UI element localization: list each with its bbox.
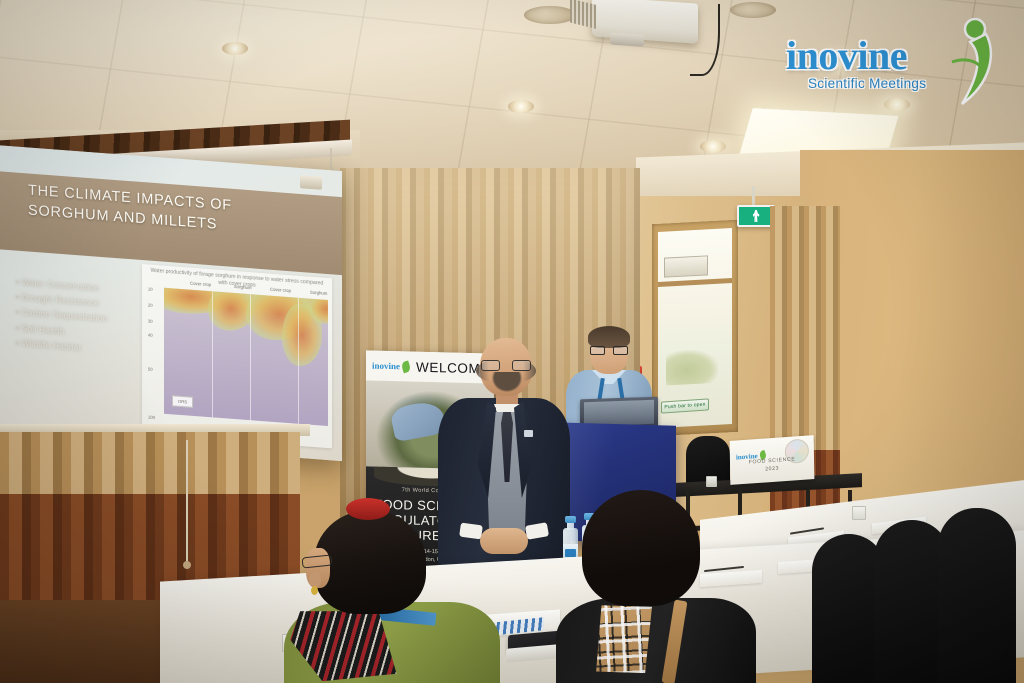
running-man-glyph	[753, 210, 760, 222]
chart-column-header: Cover crop	[270, 287, 291, 294]
chart-ytick: 40	[148, 332, 153, 337]
brand-tagline: Scientific Meetings	[808, 76, 926, 91]
ceiling-vent	[524, 6, 576, 24]
chart-column-divider	[250, 294, 251, 420]
inovine-watermark: inovine Scientific Meetings	[786, 18, 998, 102]
ceiling-projector	[592, 0, 698, 44]
chart-column-divider	[212, 291, 213, 417]
exit-sign-bracket	[752, 186, 755, 206]
screen-roller-knob[interactable]	[330, 148, 339, 172]
chart-ytick: 50	[148, 366, 153, 371]
presentation-slide: THE CLIMATE IMPACTS OF SORGHUM AND MILLE…	[0, 145, 342, 461]
speaker-beard	[492, 372, 522, 392]
brand-name: inovine	[786, 32, 907, 79]
chart-column-header: Sorghum	[234, 284, 251, 290]
downlight-icon	[508, 100, 534, 113]
operator-hair	[588, 326, 630, 348]
chart-badge: ORS	[172, 395, 193, 408]
chair-back	[938, 508, 1016, 683]
operator-glasses-icon	[590, 346, 628, 355]
chart-ytick: 100	[148, 414, 155, 420]
delegate-left-red-hair-tie	[346, 498, 390, 520]
drinking-glass	[706, 476, 717, 487]
seated-delegate-right	[556, 490, 756, 683]
drinking-glass	[852, 506, 866, 520]
chart-column-divider	[298, 298, 299, 424]
chart-ytick: 30	[148, 318, 153, 323]
chart-column-header: Cover crop	[190, 281, 211, 288]
inovine-logo-small: inovine	[372, 360, 410, 372]
projector-lens	[610, 33, 644, 47]
slide-bullet-list: Water Conservation Drought Resistance Ca…	[16, 275, 156, 361]
curtain-pull-cord[interactable]	[186, 440, 188, 562]
lower-left-curtain-top-band	[0, 432, 300, 494]
delegate-left-earring	[311, 586, 318, 595]
banner-logo-text: inovine	[372, 361, 400, 372]
leaf-icon	[401, 360, 412, 373]
screen-side-bracket	[300, 175, 322, 190]
projection-screen: THE CLIMATE IMPACTS OF SORGHUM AND MILLE…	[0, 145, 342, 461]
table-placard: inovine FOOD SCIENCE 2023	[730, 435, 815, 485]
downlight-icon	[700, 140, 726, 153]
chart-ytick: 20	[148, 302, 153, 307]
delegate-right-torso	[556, 598, 756, 683]
slide-chart: Water productivity of forage sorghum in …	[142, 264, 332, 448]
chart-column-header: Sorghum	[310, 290, 327, 296]
speaker-glasses-icon	[480, 360, 532, 371]
delegate-right-hair	[582, 490, 700, 606]
chart-ytick: 10	[148, 286, 153, 291]
ceiling-vent	[730, 2, 776, 18]
outdoor-foliage	[666, 349, 718, 386]
downlight-icon	[222, 42, 248, 55]
leaf-swoosh-icon	[942, 18, 998, 106]
window-vent-panel	[664, 255, 708, 277]
conference-room-photo: inovine Scientific Meetings Push bar to …	[0, 0, 1024, 683]
seated-delegate-left	[284, 498, 500, 683]
speaker-lapel-pin	[524, 430, 533, 437]
laptop-screen	[584, 400, 654, 426]
